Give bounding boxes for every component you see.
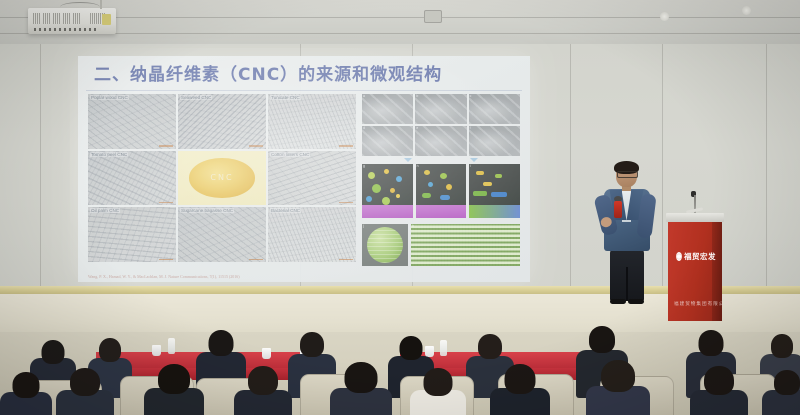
slide-panel: Oil palm CNC <box>88 207 176 262</box>
lectern-top <box>666 213 724 222</box>
ceiling-seam <box>0 33 800 34</box>
panel-tag: h <box>417 164 419 168</box>
sem-panel: f <box>469 126 520 156</box>
water-bottle <box>168 338 175 354</box>
eyeglasses-icon <box>617 171 638 178</box>
panel-tag: g <box>363 164 365 168</box>
lectern-logo: 福贸宏发 <box>676 251 716 262</box>
flow-arrow-icon <box>404 158 412 162</box>
panel-label: Tunicate CNC <box>270 95 301 100</box>
simulation-panel: i <box>469 164 520 218</box>
wall-seam <box>40 44 41 302</box>
wall-seam <box>662 44 663 302</box>
ceiling-light <box>742 6 751 15</box>
slide-sem-grid: a b c d e f <box>362 94 520 156</box>
conference-hall-screenshot: 二、纳晶纤维素（CNC）的来源和微观结构 Poplar wood CNC Sea… <box>0 0 800 415</box>
ceiling <box>0 0 800 48</box>
stripe-panel: k <box>411 224 520 266</box>
simulation-panel: h <box>416 164 467 218</box>
projector-lens <box>102 14 111 25</box>
sem-panel: c <box>469 94 520 124</box>
panel-tag: f <box>470 126 471 130</box>
audience-person <box>56 368 114 415</box>
slide-title: 二、纳晶纤维素（CNC）的来源和微观结构 <box>94 60 514 86</box>
presenter <box>598 163 656 303</box>
green-sphere <box>367 227 403 263</box>
slide-panel: Tomato peel CNC <box>88 151 176 206</box>
lectern: 福贸宏发 福建贸物集团有限公司 <box>668 213 722 321</box>
audience-person <box>690 366 748 415</box>
slide-panel: Seaweed CNC <box>178 94 266 149</box>
audience-person <box>490 364 550 415</box>
audience-person <box>762 370 800 415</box>
audience-person <box>0 372 52 415</box>
company-mark-icon <box>676 252 682 261</box>
slide-panel: Cotton linters CNC <box>268 151 356 206</box>
ceiling-projector <box>28 8 116 34</box>
sem-panel: d <box>362 126 413 156</box>
ceiling-light <box>660 12 669 21</box>
audience-person <box>586 360 650 415</box>
slide-simulation-row: g h i <box>362 164 520 218</box>
wall-seam <box>570 44 571 302</box>
panel-tag: c <box>470 94 472 98</box>
wall-seam <box>766 44 767 302</box>
cup <box>262 348 271 359</box>
projector-mount <box>100 0 102 9</box>
sem-panel: a <box>362 94 413 124</box>
lectern-subtitle: 福建贸物集团有限公司 <box>674 301 730 307</box>
slide-panel: Sugarcane bagasse CNC <box>178 207 266 262</box>
panel-label: Poplar wood CNC <box>90 95 129 100</box>
sphere-panel: j <box>362 224 408 266</box>
slide-structure-row: j k <box>362 224 520 266</box>
water-bottle <box>440 340 447 356</box>
presenter-hand <box>600 216 613 228</box>
lectern-logo-text: 福贸宏发 <box>684 251 716 262</box>
slide-source-grid: Poplar wood CNC Seaweed CNC Tunicate CNC… <box>88 94 356 262</box>
panel-tag: d <box>363 126 365 130</box>
slide-citation: Wang, P. X., Hamad, W. Y., & MacLachlan,… <box>88 274 240 279</box>
audience-person <box>234 366 292 415</box>
panel-tag: e <box>416 126 418 130</box>
panel-tag: j <box>363 224 364 228</box>
ceiling-seam <box>0 17 800 18</box>
panel-label: Cotton linters CNC <box>270 152 310 157</box>
cnc-label: CNC <box>210 173 233 182</box>
handheld-microphone <box>614 201 622 218</box>
slide-panel: Tunicate CNC <box>268 94 356 149</box>
panel-label: Sugarcane bagasse CNC <box>180 208 234 213</box>
panel-label: Tomato peel CNC <box>90 152 128 157</box>
simulation-panel: g <box>362 164 413 218</box>
sem-panel: e <box>415 126 466 156</box>
audience-person <box>330 362 392 415</box>
cup <box>152 345 161 356</box>
panel-tag: a <box>363 94 365 98</box>
ceiling-vent <box>424 10 442 23</box>
panel-label: Seaweed CNC <box>180 95 212 100</box>
panel-label: Bacterial CNC <box>270 208 301 213</box>
slide-title-rule <box>86 90 522 91</box>
audience-person <box>144 364 204 415</box>
slide-panel: Bacterial CNC <box>268 207 356 262</box>
cnc-ellipse: CNC <box>189 158 254 197</box>
panel-label: Oil palm CNC <box>90 208 120 213</box>
slide-center-cnc-panel: CNC <box>178 151 266 206</box>
projected-slide: 二、纳晶纤维素（CNC）的来源和微观结构 Poplar wood CNC Sea… <box>78 56 530 282</box>
panel-tag: b <box>416 94 418 98</box>
panel-tag: i <box>470 164 471 168</box>
slide-panel: Poplar wood CNC <box>88 94 176 149</box>
audience-person <box>410 368 466 415</box>
sem-panel: b <box>415 94 466 124</box>
panel-tag: k <box>412 224 414 228</box>
projector-cable <box>60 2 100 12</box>
flow-arrow-icon <box>470 158 478 162</box>
